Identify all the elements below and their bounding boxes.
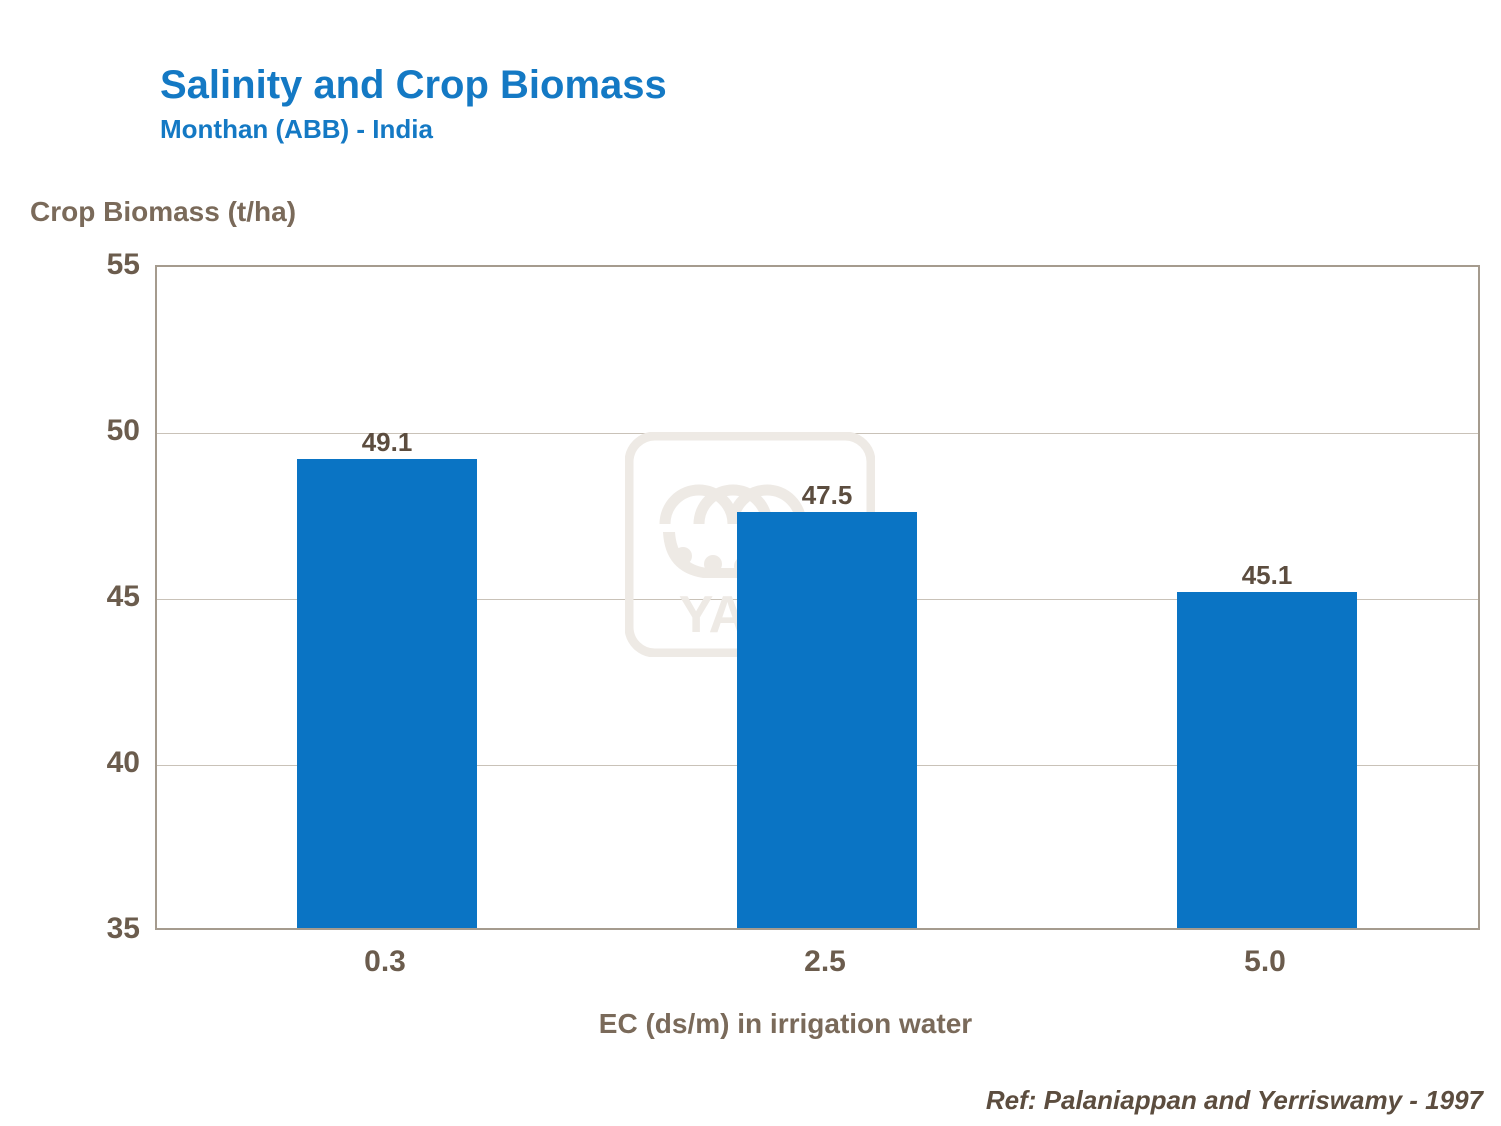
bar-2.5 bbox=[737, 512, 917, 928]
y-tick-35: 35 bbox=[20, 912, 140, 946]
reference-note: Ref: Palaniappan and Yerriswamy - 1997 bbox=[986, 1085, 1483, 1116]
bar-label-2.5: 47.5 bbox=[737, 480, 917, 511]
y-tick-45: 45 bbox=[20, 580, 140, 614]
x-tick-5.0: 5.0 bbox=[1244, 945, 1286, 979]
y-axis-title: Crop Biomass (t/ha) bbox=[30, 196, 296, 228]
bar-5.0 bbox=[1177, 592, 1357, 928]
x-tick-2.5: 2.5 bbox=[804, 945, 846, 979]
title-block: Salinity and Crop Biomass Monthan (ABB) … bbox=[160, 62, 667, 145]
bar-0.3 bbox=[297, 459, 477, 928]
bar-label-5.0: 45.1 bbox=[1177, 560, 1357, 591]
plot-area: YARA 49.1 47.5 45.1 bbox=[155, 265, 1480, 930]
bar-label-0.3: 49.1 bbox=[297, 427, 477, 458]
chart-subtitle: Monthan (ABB) - India bbox=[160, 113, 667, 145]
y-axis-ticks: 55 50 45 40 35 bbox=[0, 265, 140, 930]
y-tick-40: 40 bbox=[20, 746, 140, 780]
page-title: Salinity and Crop Biomass bbox=[160, 62, 667, 108]
y-tick-55: 55 bbox=[20, 248, 140, 282]
x-tick-0.3: 0.3 bbox=[364, 945, 406, 979]
y-tick-50: 50 bbox=[20, 414, 140, 448]
x-axis-title: EC (ds/m) in irrigation water bbox=[0, 1008, 1501, 1040]
x-axis-ticks: 0.3 2.5 5.0 bbox=[155, 945, 1480, 989]
x-axis-title-text: EC (ds/m) in irrigation water bbox=[599, 1008, 972, 1039]
